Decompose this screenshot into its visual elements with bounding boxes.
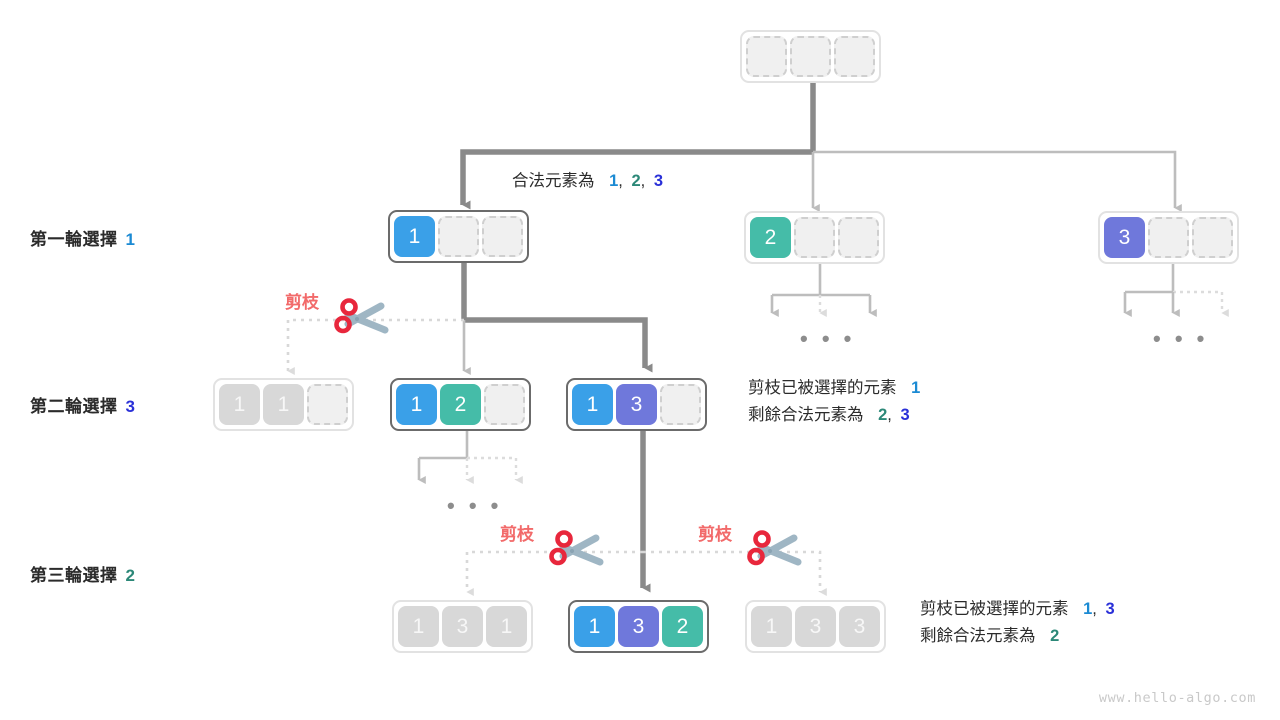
watermark: www.hello-algo.com <box>1099 690 1256 706</box>
node-1-1-pruned[interactable]: 1 1 <box>213 378 354 431</box>
annotation-round-3-selected-1: 1 <box>1083 600 1092 618</box>
node-2-cell-1 <box>794 217 835 258</box>
node-1-1-cell-2 <box>307 384 348 425</box>
node-1-3-2-cell-2: 2 <box>662 606 703 647</box>
node-3-cell-2 <box>1192 217 1233 258</box>
annotation-round-2-selected-1: 1 <box>911 379 920 397</box>
ellipsis-under-node-3: • • • <box>1153 328 1208 350</box>
node-1-2-cell-2 <box>484 384 525 425</box>
annotation-round-3-line-2-prefix: 剩餘合法元素為 <box>920 627 1036 645</box>
annotation-round-2-remaining-2: 3 <box>900 406 909 424</box>
root-node[interactable] <box>740 30 881 83</box>
annotation-round-3-line-1: 剪枝已被選擇的元素 1, 3 <box>920 596 1115 623</box>
ellipsis-under-node-2: • • • <box>800 328 855 350</box>
annotation-legal-value-1: 1 <box>609 172 618 190</box>
annotation-legal-elements: 合法元素為 1, 2, 3 <box>512 168 663 195</box>
node-1-cell-0: 1 <box>394 216 435 257</box>
annotation-round-3-line-2: 剩餘合法元素為 2 <box>920 623 1115 650</box>
node-1-3-3-pruned[interactable]: 1 3 3 <box>745 600 886 653</box>
node-1-3-2-cell-0: 1 <box>574 606 615 647</box>
node-1-3-3-cell-2: 3 <box>839 606 880 647</box>
prune-label-1: 剪枝 <box>285 288 319 313</box>
node-1-3-2-cell-1: 3 <box>618 606 659 647</box>
node-1-cell-2 <box>482 216 523 257</box>
annotation-round-2-line-1-prefix: 剪枝已被選擇的元素 <box>748 379 897 397</box>
node-3[interactable]: 3 <box>1098 211 1239 264</box>
node-1-3-cell-1: 3 <box>616 384 657 425</box>
row-label-round-1-text: 第一輪選擇 <box>30 230 118 249</box>
annotation-round-3: 剪枝已被選擇的元素 1, 3 剩餘合法元素為 2 <box>920 596 1115 650</box>
node-1-3-1-cell-0: 1 <box>398 606 439 647</box>
node-1[interactable]: 1 <box>388 210 529 263</box>
node-1-3[interactable]: 1 3 <box>566 378 707 431</box>
root-cell-2 <box>834 36 875 77</box>
annotation-round-2-line-1: 剪枝已被選擇的元素 1 <box>748 375 920 402</box>
node-1-3-3-cell-1: 3 <box>795 606 836 647</box>
node-1-3-1-cell-2: 1 <box>486 606 527 647</box>
row-label-round-3: 第三輪選擇2 <box>30 561 135 586</box>
node-1-2[interactable]: 1 2 <box>390 378 531 431</box>
node-1-1-cell-0: 1 <box>219 384 260 425</box>
row-label-round-1-value: 1 <box>126 230 136 249</box>
row-label-round-1: 第一輪選擇1 <box>30 225 135 250</box>
prune-label-2: 剪枝 <box>500 520 534 545</box>
node-1-3-cell-2 <box>660 384 701 425</box>
node-1-3-cell-0: 1 <box>572 384 613 425</box>
annotation-round-2-remaining-1: 2 <box>878 406 887 424</box>
annotation-round-2: 剪枝已被選擇的元素 1 剩餘合法元素為 2, 3 <box>748 375 920 429</box>
node-1-cell-1 <box>438 216 479 257</box>
annotation-round-2-line-2: 剩餘合法元素為 2, 3 <box>748 402 920 429</box>
node-1-1-cell-1: 1 <box>263 384 304 425</box>
diagram-canvas: 第一輪選擇1 第二輪選擇3 第三輪選擇2 1 2 3 1 1 1 2 <box>0 0 1280 720</box>
scissors-icon-2 <box>552 533 601 564</box>
annotation-round-3-line-1-prefix: 剪枝已被選擇的元素 <box>920 600 1069 618</box>
node-3-cell-0: 3 <box>1104 217 1145 258</box>
node-2[interactable]: 2 <box>744 211 885 264</box>
row-label-round-3-value: 2 <box>126 566 136 585</box>
node-1-3-1-pruned[interactable]: 1 3 1 <box>392 600 533 653</box>
ellipsis-under-node-1-2: • • • <box>447 495 502 517</box>
root-cell-0 <box>746 36 787 77</box>
node-1-2-cell-0: 1 <box>396 384 437 425</box>
prune-label-3: 剪枝 <box>698 520 732 545</box>
node-2-cell-2 <box>838 217 879 258</box>
annotation-legal-elements-prefix: 合法元素為 <box>512 172 595 190</box>
node-1-3-3-cell-0: 1 <box>751 606 792 647</box>
node-1-3-1-cell-1: 3 <box>442 606 483 647</box>
node-2-cell-0: 2 <box>750 217 791 258</box>
scissors-icon-1 <box>337 301 386 332</box>
scissors-icon-3 <box>750 533 799 564</box>
annotation-legal-value-3: 3 <box>654 172 663 190</box>
node-1-3-2[interactable]: 1 3 2 <box>568 600 709 653</box>
row-label-round-2-value: 3 <box>126 397 136 416</box>
annotation-round-3-selected-2: 3 <box>1105 600 1114 618</box>
row-label-round-2: 第二輪選擇3 <box>30 392 135 417</box>
annotation-legal-value-2: 2 <box>631 172 640 190</box>
annotation-round-3-remaining-1: 2 <box>1050 627 1059 645</box>
annotation-round-2-line-2-prefix: 剩餘合法元素為 <box>748 406 864 424</box>
node-3-cell-1 <box>1148 217 1189 258</box>
row-label-round-3-text: 第三輪選擇 <box>30 566 118 585</box>
root-cell-1 <box>790 36 831 77</box>
node-1-2-cell-1: 2 <box>440 384 481 425</box>
row-label-round-2-text: 第二輪選擇 <box>30 397 118 416</box>
